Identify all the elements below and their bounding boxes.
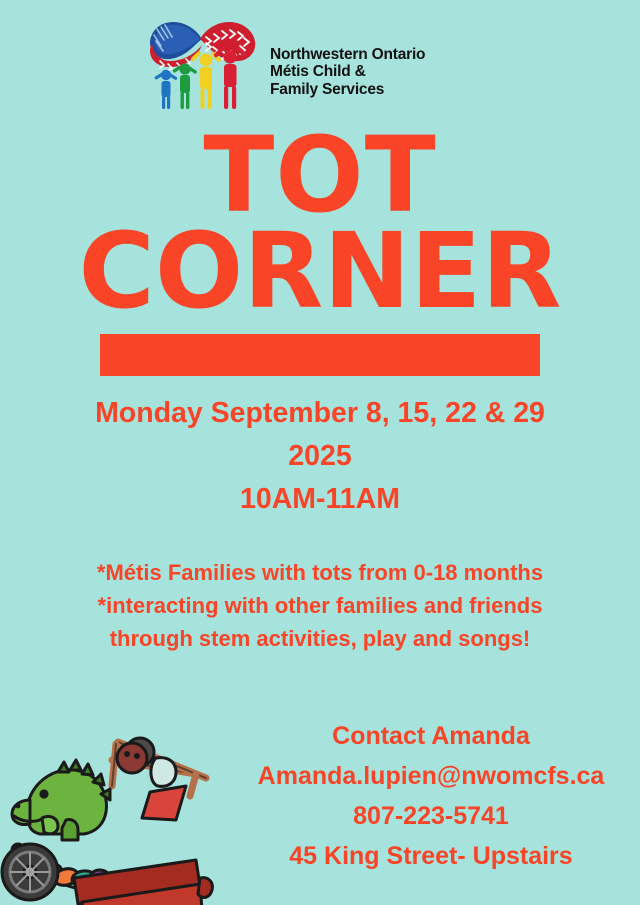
contact-phone[interactable]: 807-223-5741: [230, 796, 632, 836]
logo-line-3: Family Services: [270, 81, 425, 99]
metis-infinity-with-children-logo: [140, 13, 262, 111]
organization-name: Northwestern Ontario Métis Child & Famil…: [270, 26, 425, 99]
contact-address: 45 King Street- Upstairs: [230, 836, 632, 876]
contact-person: Contact Amanda: [230, 716, 632, 756]
schedule-line-year: 2025: [0, 435, 640, 478]
event-description: *Métis Families with tots from 0-18 mont…: [0, 556, 640, 655]
title-line-1: TOT: [0, 128, 640, 222]
event-schedule: Monday September 8, 15, 22 & 29 2025 10A…: [0, 392, 640, 521]
organization-logo: Northwestern Ontario Métis Child & Famil…: [140, 12, 520, 112]
contact-block: Contact Amanda Amanda.lupien@nwomcfs.ca …: [230, 716, 632, 876]
accent-divider-bar: [100, 334, 540, 376]
poster-title: TOT CORNER: [0, 128, 640, 320]
dinosaur-in-red-wagon-illustration: [0, 700, 232, 905]
contact-email[interactable]: Amanda.lupien@nwomcfs.ca: [230, 756, 632, 796]
description-line-2: *interacting with other families and fri…: [0, 589, 640, 622]
description-line-1: *Métis Families with tots from 0-18 mont…: [0, 556, 640, 589]
title-line-2: CORNER: [0, 222, 640, 320]
logo-line-1: Northwestern Ontario: [270, 46, 425, 64]
schedule-line-dates: Monday September 8, 15, 22 & 29: [0, 392, 640, 435]
schedule-line-time: 10AM-11AM: [0, 478, 640, 521]
description-line-3: through stem activities, play and songs!: [0, 622, 640, 655]
logo-line-2: Métis Child &: [270, 63, 425, 81]
poster-canvas: Northwestern Ontario Métis Child & Famil…: [0, 0, 640, 905]
